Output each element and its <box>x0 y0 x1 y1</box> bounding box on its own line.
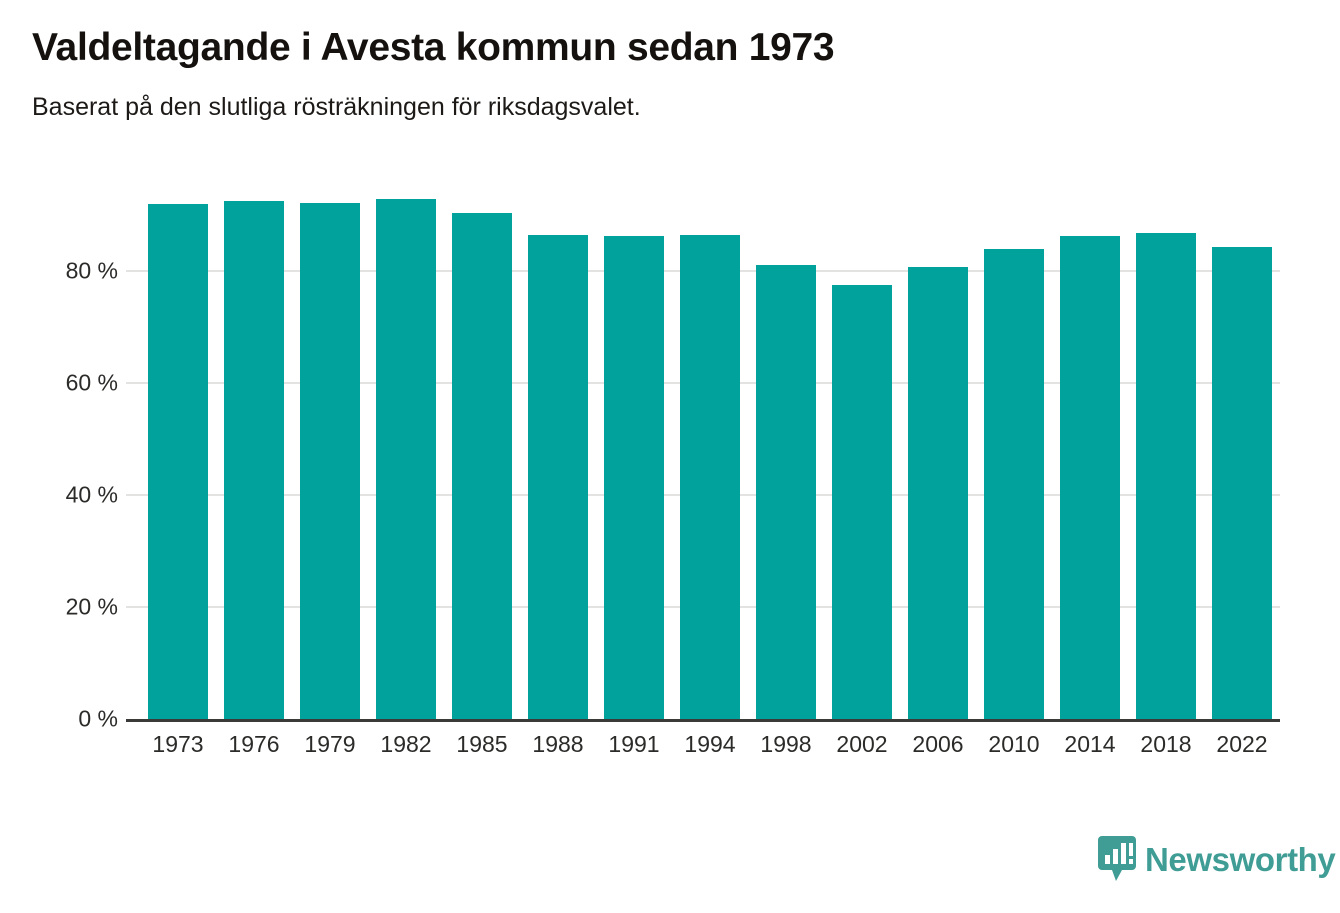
newsworthy-logo: Newsworthy <box>1098 836 1335 882</box>
x-axis-tick-label: 2018 <box>1128 731 1204 758</box>
bar[interactable] <box>452 213 512 719</box>
gridline <box>126 382 1280 384</box>
x-axis-baseline <box>126 719 1280 722</box>
x-axis-tick-label: 2014 <box>1052 731 1128 758</box>
x-axis-tick-label: 1976 <box>216 731 292 758</box>
x-axis-tick-label: 2022 <box>1204 731 1280 758</box>
bar[interactable] <box>528 235 588 719</box>
bar[interactable] <box>300 203 360 719</box>
y-axis-tick-label: 60 % <box>66 370 118 397</box>
bar[interactable] <box>756 265 816 719</box>
x-axis-tick-label: 1979 <box>292 731 368 758</box>
x-axis-tick-label: 1991 <box>596 731 672 758</box>
bar[interactable] <box>148 204 208 719</box>
x-axis-tick-label: 2006 <box>900 731 976 758</box>
logo-wordmark: Newsworthy <box>1145 843 1335 876</box>
bar[interactable] <box>1136 233 1196 719</box>
y-axis-tick-label: 0 % <box>78 706 118 733</box>
bar[interactable] <box>224 201 284 719</box>
x-axis-tick-label: 1982 <box>368 731 444 758</box>
bar-chart-speech-bubble-icon <box>1098 836 1136 882</box>
x-axis-tick-label: 2010 <box>976 731 1052 758</box>
x-axis-tick-label: 1985 <box>444 731 520 758</box>
bar[interactable] <box>680 235 740 719</box>
gridline <box>126 270 1280 272</box>
y-axis-tick-label: 40 % <box>66 482 118 509</box>
bar[interactable] <box>376 199 436 719</box>
y-gridlines: 0 %20 %40 %60 %80 % <box>0 0 1340 913</box>
page-subtitle: Baserat på den slutliga rösträkningen fö… <box>32 70 1302 122</box>
y-axis-tick-label: 20 % <box>66 594 118 621</box>
bar[interactable] <box>832 285 892 719</box>
x-axis-tick-label: 1973 <box>140 731 216 758</box>
bar[interactable] <box>908 267 968 719</box>
gridline <box>126 494 1280 496</box>
bar[interactable] <box>1060 236 1120 719</box>
bar[interactable] <box>984 249 1044 719</box>
bar[interactable] <box>1212 247 1272 719</box>
bar-series <box>0 0 1340 913</box>
x-axis-tick-label: 1998 <box>748 731 824 758</box>
x-axis-tick-label: 1988 <box>520 731 596 758</box>
bar[interactable] <box>604 236 664 719</box>
page-title: Valdeltagande i Avesta kommun sedan 1973 <box>32 26 1302 70</box>
y-axis-tick-label: 80 % <box>66 258 118 285</box>
x-axis-tick-label: 1994 <box>672 731 748 758</box>
chart-header: Valdeltagande i Avesta kommun sedan 1973… <box>32 26 1302 122</box>
gridline <box>126 606 1280 608</box>
x-axis-tick-label: 2002 <box>824 731 900 758</box>
chart-plot-area: 0 %20 %40 %60 %80 % 19731976197919821985… <box>0 0 1340 913</box>
chart-page: Valdeltagande i Avesta kommun sedan 1973… <box>0 0 1340 913</box>
